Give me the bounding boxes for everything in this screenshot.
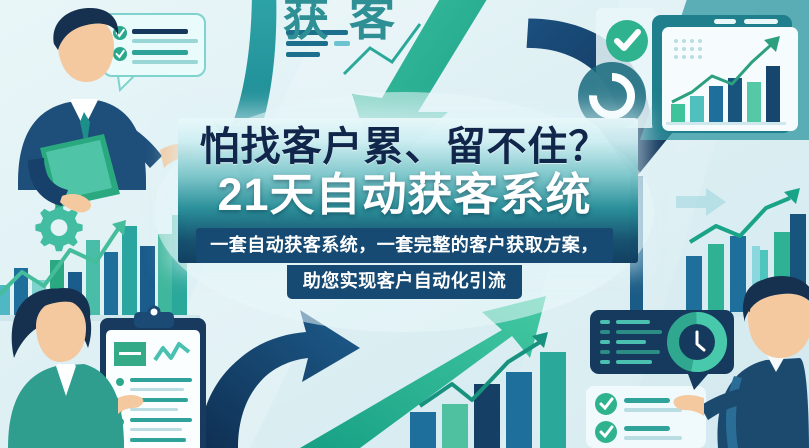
subtitle-row-2: 助您实现客户自动化引流 xyxy=(287,265,523,299)
subtitle-row-1: 一套自动获客系统，一套完整的客户获取方案， xyxy=(196,228,613,263)
dark-data-panel xyxy=(590,310,734,390)
marketing-banner: 获客 怕找客户累、留不住？ 21天自动获客系统 一套自动获客系统，一套完整的客户… xyxy=(0,0,809,448)
headline-text-block: 怕找客户累、留不住？ 21天自动获客系统 一套自动获客系统，一套完整的客户获取方… xyxy=(0,118,809,310)
check-icon xyxy=(595,421,617,443)
check-icon xyxy=(595,393,617,415)
headline-line-1: 怕找客户累、留不住？ xyxy=(0,124,809,170)
subtitle-line-2: 助您实现客户自动化引流 xyxy=(287,265,523,299)
headline-line-2: 21天自动获客系统 xyxy=(0,169,809,221)
subtitle-line-1: 一套自动获客系统，一套完整的客户获取方案， xyxy=(196,228,613,263)
top-cropped-text: 获客 xyxy=(283,0,415,49)
